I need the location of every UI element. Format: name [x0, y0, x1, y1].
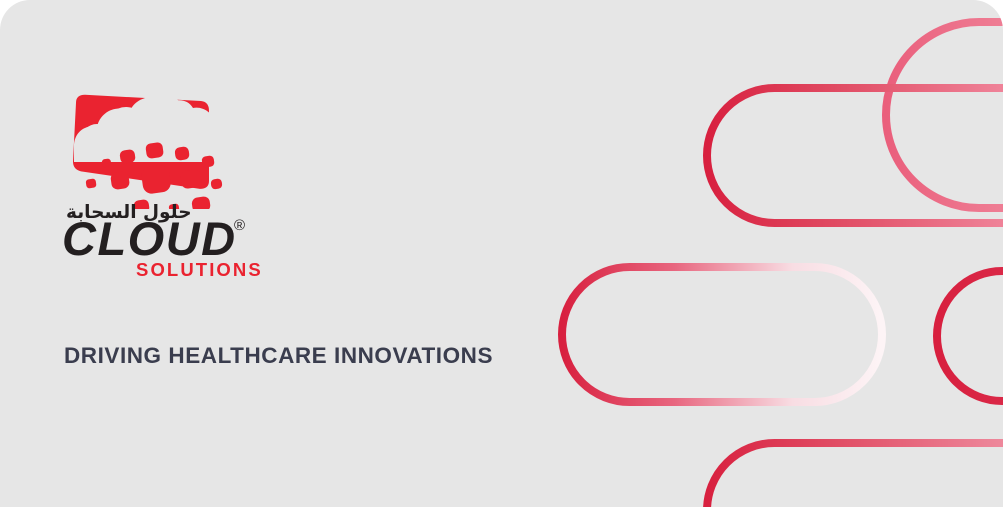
pill-bottom [707, 443, 1003, 507]
brand-sub-wordmark: SOLUTIONS [136, 259, 263, 281]
pill-top-light [886, 22, 1003, 208]
brand-wordmark: CLOUD [62, 215, 237, 262]
pill-middle-right [937, 271, 1003, 401]
brand-logo [64, 84, 264, 209]
slide-canvas: حلول السحابة CLOUD ® SOLUTIONS DRIVING H… [0, 0, 1003, 507]
tagline-text: DRIVING HEALTHCARE INNOVATIONS [64, 343, 493, 369]
registered-trademark-icon: ® [234, 218, 245, 233]
cloud-logo-icon [64, 84, 254, 209]
pill-upper-main [707, 88, 1003, 223]
brand-card: حلول السحابة CLOUD ® SOLUTIONS DRIVING H… [0, 0, 1003, 507]
pill-middle-main [562, 267, 882, 402]
